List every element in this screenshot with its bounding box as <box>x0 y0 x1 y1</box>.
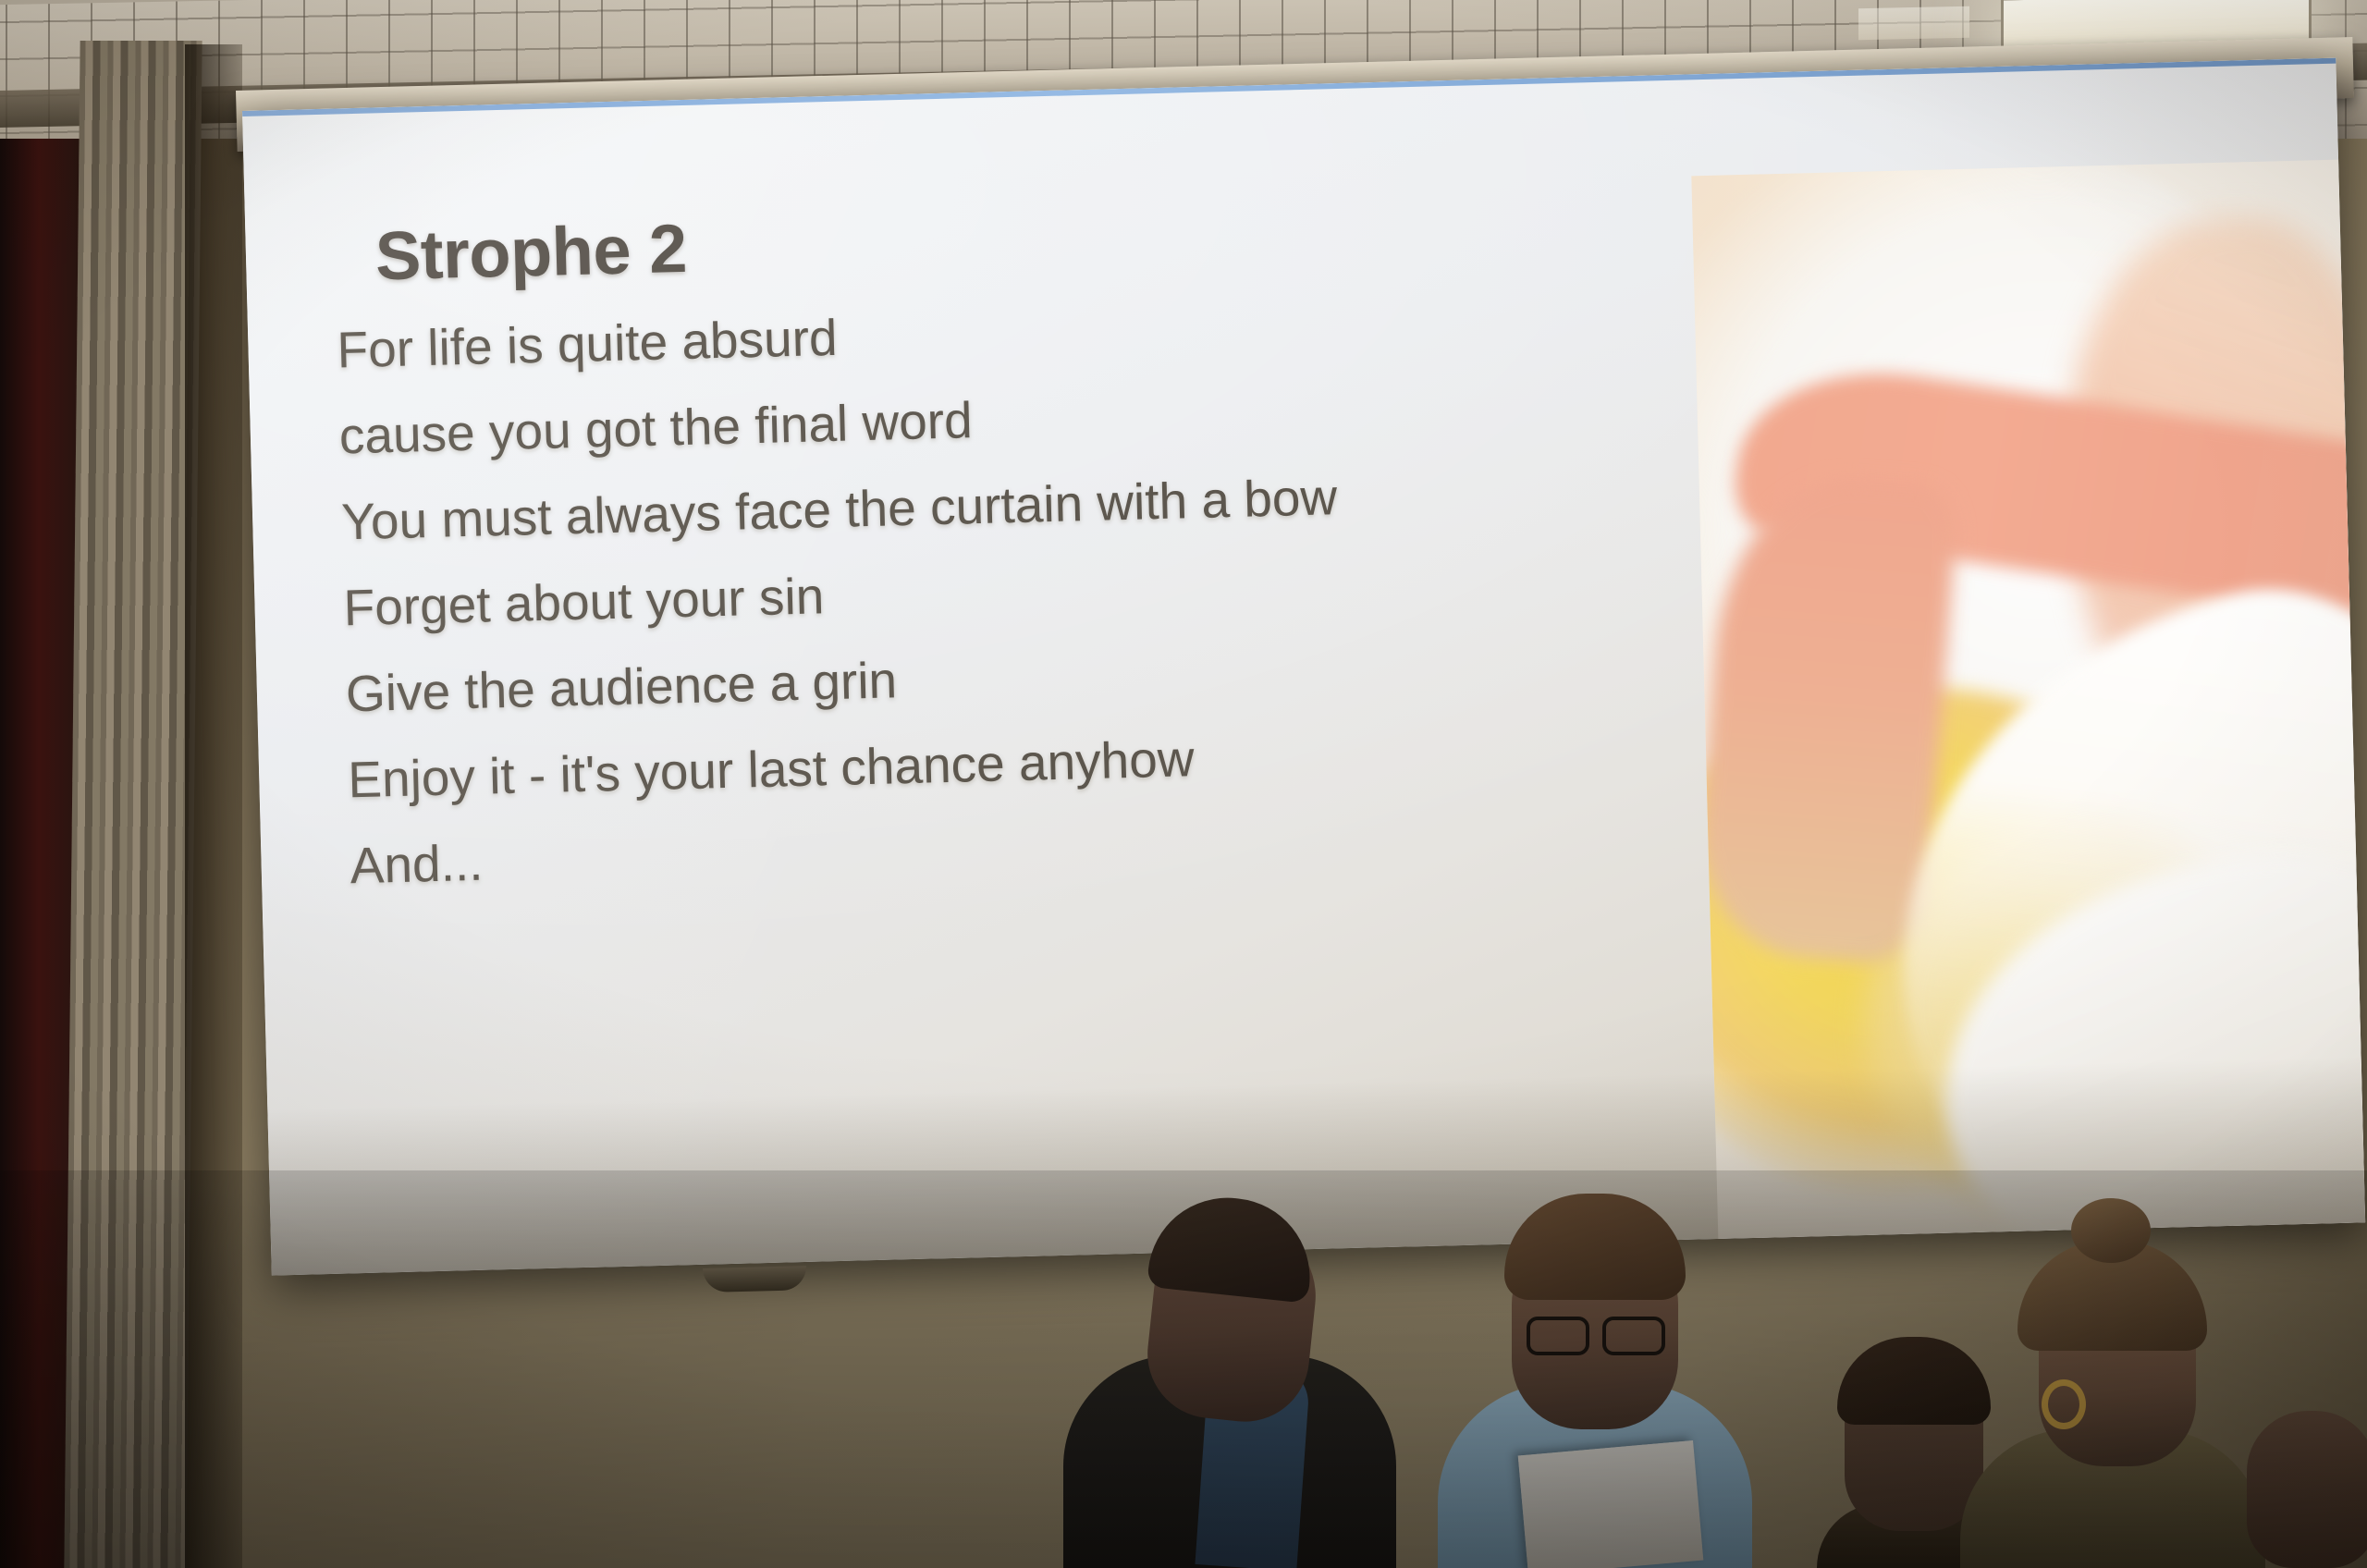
audience-foreground <box>0 1170 2367 1568</box>
person-hair <box>1504 1194 1686 1300</box>
ceiling-light-secondary <box>1858 6 1969 41</box>
hoop-earring-icon <box>2042 1379 2086 1429</box>
eyeglasses-icon <box>1527 1317 1665 1348</box>
person-head <box>2247 1411 2367 1568</box>
projection-screen: Strophe 2 For life is quite absurd cause… <box>242 58 2365 1276</box>
slide-lyrics-block: For life is quite absurd cause you got t… <box>336 273 1719 909</box>
hair-bun <box>2071 1198 2151 1263</box>
person-far-right <box>2238 1411 2367 1568</box>
slide-title: Strophe 2 <box>374 209 688 295</box>
held-paper-sheet <box>1518 1440 1704 1568</box>
person-hair <box>1147 1190 1318 1304</box>
woman-hair-bun-earring <box>1960 1207 2265 1568</box>
woman-glasses-blue-top <box>1438 1161 1752 1568</box>
man-dark-jacket <box>1063 1170 1396 1568</box>
presentation-slide: Strophe 2 For life is quite absurd cause… <box>242 58 2365 1276</box>
slide-artwork-image <box>1691 160 2365 1239</box>
photo-scene: Strophe 2 For life is quite absurd cause… <box>0 0 2367 1568</box>
